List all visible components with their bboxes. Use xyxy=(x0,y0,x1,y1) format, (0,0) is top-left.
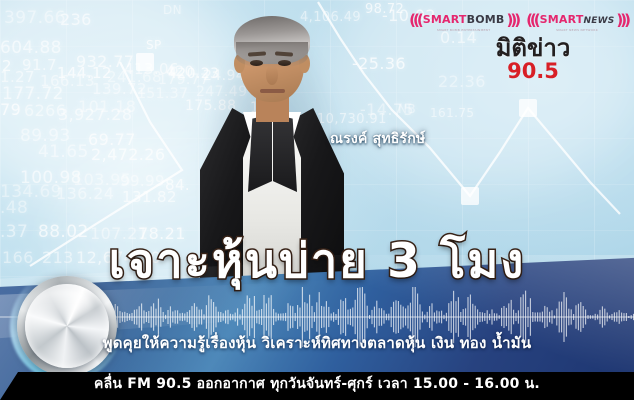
smart-news-tagline: SMART NEWS NETWORK xyxy=(556,28,598,32)
smart-bomb-word-text: BOMB xyxy=(467,13,505,26)
station-logos: ((( SMARTBOMB SMART BOMB ENTERTAINMENT )… xyxy=(438,8,628,83)
station-brand-name: มิติข่าว xyxy=(438,36,628,60)
chart-marker xyxy=(519,99,537,117)
smart-news-smart-text: SMART xyxy=(540,13,584,26)
presenter-eye-left xyxy=(250,60,263,66)
smart-bomb-wordmark: SMARTBOMB SMART BOMB ENTERTAINMENT xyxy=(423,8,505,32)
knob-gloss-highlight xyxy=(32,288,92,322)
presenter-nose xyxy=(266,66,278,85)
smart-news-logo[interactable]: ((( SMARTNEWS SMART NEWS NETWORK ))) xyxy=(526,8,628,32)
news-paren-right-icon: ))) xyxy=(616,13,628,28)
smart-news-word-text: NEWS xyxy=(584,16,615,26)
program-title: เจาะหุ้นบ่าย 3 โมง xyxy=(0,238,634,285)
program-subtitle: พูดคุยให้ความรู้เรื่องหุ้น วิเคราะห์ทิศท… xyxy=(0,331,634,355)
program-title-text: เจาะหุ้นบ่าย 3 โมง xyxy=(109,234,526,289)
logo-paren-left-icon: ((( xyxy=(409,13,421,28)
smart-news-wordmark: SMARTNEWS SMART NEWS NETWORK xyxy=(540,8,615,32)
chart-marker xyxy=(461,187,479,205)
presenter-mouth xyxy=(260,89,285,93)
news-paren-left-icon: ((( xyxy=(526,13,538,28)
logo-paren-right-icon: ))) xyxy=(507,13,519,28)
smart-bomb-tagline: SMART BOMB ENTERTAINMENT xyxy=(437,28,490,32)
smart-bomb-smart-text: SMART xyxy=(423,13,467,26)
station-frequency: 90.5 xyxy=(438,60,628,82)
smart-bomb-logo[interactable]: ((( SMARTBOMB SMART BOMB ENTERTAINMENT )… xyxy=(409,8,518,32)
schedule-text: คลื่น FM 90.5 ออกอากาศ ทุกวันจันทร์-ศุกร… xyxy=(0,373,634,395)
chart-marker xyxy=(136,53,154,71)
presenter-name: ณรงค์ สุทธิรักษ์ xyxy=(330,128,425,150)
presenter-eye-right xyxy=(278,60,291,66)
presenter-hair xyxy=(234,16,310,64)
broadcast-promo-graphic: 397.66236DN604.88SP291.7932.77413.064201… xyxy=(0,0,634,400)
logo-row: ((( SMARTBOMB SMART BOMB ENTERTAINMENT )… xyxy=(438,8,628,32)
